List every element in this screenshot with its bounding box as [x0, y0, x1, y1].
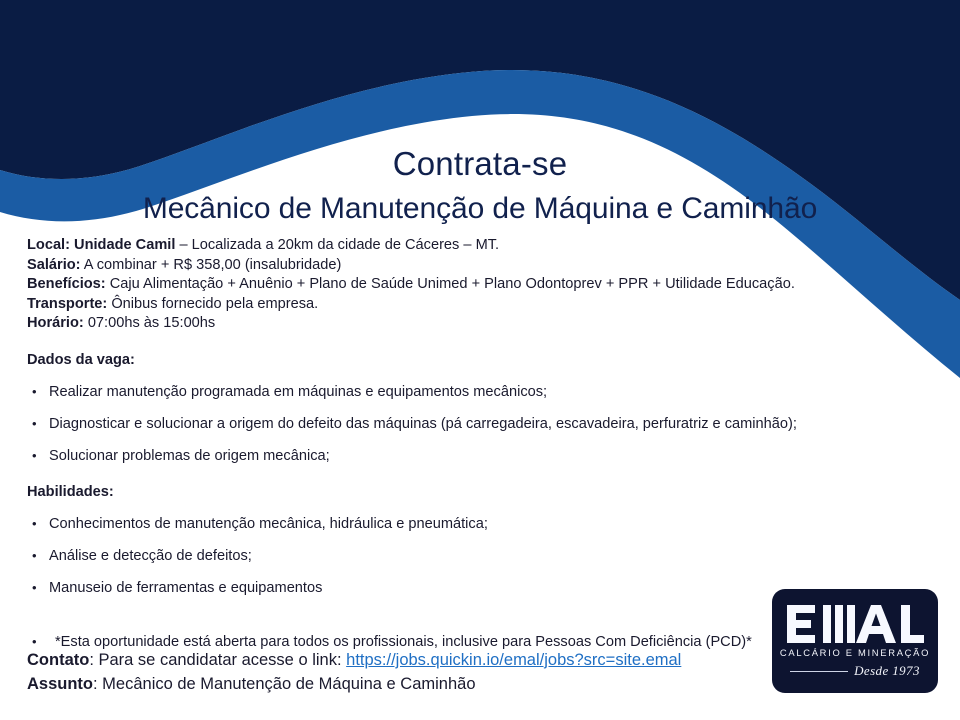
list-item-text: Diagnosticar e solucionar a origem do de…	[49, 415, 797, 434]
list-item: •Realizar manutenção programada em máqui…	[27, 382, 927, 402]
bullet-icon: •	[27, 514, 49, 533]
job-info-line: Transporte: Ônibus fornecido pela empres…	[27, 295, 927, 315]
job-info-line: Local: Unidade Camil – Localizada a 20km…	[27, 236, 927, 256]
list-item-text: Realizar manutenção programada em máquin…	[49, 383, 547, 402]
list-item-text: Conhecimentos de manutenção mecânica, hi…	[49, 515, 488, 534]
assunto-text: : Mecânico de Manutenção de Máquina e Ca…	[93, 675, 476, 693]
company-logo: CALCÁRIO E MINERAÇÃO Desde 1973	[772, 589, 938, 693]
job-info-list: Local: Unidade Camil – Localizada a 20km…	[27, 236, 927, 334]
assunto-label: Assunto	[27, 675, 93, 693]
bullet-icon: •	[27, 546, 49, 565]
page-title: Contrata-se	[0, 142, 960, 186]
subject-line: Assunto: Mecânico de Manutenção de Máqui…	[27, 672, 681, 696]
list-item: •Diagnosticar e solucionar a origem do d…	[27, 414, 927, 434]
logo-since-row: Desde 1973	[772, 663, 938, 679]
bullet-icon: •	[27, 414, 49, 433]
list-item: •Análise e detecção de defeitos;	[27, 546, 927, 566]
contato-label: Contato	[27, 651, 89, 669]
job-info-rest: A combinar + R$ 358,00 (insalubridade)	[81, 257, 342, 273]
bullet-icon: •	[27, 382, 49, 401]
job-info-value: Unidade Camil	[70, 237, 175, 253]
list-item: •Solucionar problemas de origem mecânica…	[27, 446, 927, 466]
logo-wordmark	[772, 602, 938, 643]
job-position-title: Mecânico de Manutenção de Máquina e Cami…	[0, 188, 960, 230]
job-info-label: Local:	[27, 237, 70, 253]
job-info-line: Salário: A combinar + R$ 358,00 (insalub…	[27, 256, 927, 276]
contact-block: Contato: Para se candidatar acesse o lin…	[27, 648, 681, 696]
job-info-rest: Caju Alimentação + Anuênio + Plano de Sa…	[106, 276, 795, 292]
apply-link[interactable]: https://jobs.quickin.io/emal/jobs?src=si…	[346, 651, 681, 669]
poster-headline: Contrata-se Mecânico de Manutenção de Má…	[0, 142, 960, 230]
bullet-icon: •	[27, 446, 49, 465]
job-info-label: Benefícios:	[27, 276, 106, 292]
job-info-line: Horário: 07:00hs às 15:00hs	[27, 314, 927, 334]
logo-divider	[790, 671, 848, 672]
job-sections-list: Dados da vaga:•Realizar manutenção progr…	[27, 351, 927, 598]
job-info-label: Horário:	[27, 315, 84, 331]
job-info-label: Transporte:	[27, 296, 107, 312]
list-item-text: Solucionar problemas de origem mecânica;	[49, 447, 330, 466]
emal-wordmark-icon	[785, 605, 925, 643]
job-info-rest: – Localizada a 20km da cidade de Cáceres…	[175, 237, 499, 253]
list-item: •Conhecimentos de manutenção mecânica, h…	[27, 514, 927, 534]
section-heading: Habilidades:	[27, 483, 927, 502]
job-info-rest: 07:00hs às 15:00hs	[84, 315, 215, 331]
job-info-line: Benefícios: Caju Alimentação + Anuênio +…	[27, 275, 927, 295]
list-item-text: Manuseio de ferramentas e equipamentos	[49, 579, 322, 598]
job-posting-poster: Contrata-se Mecânico de Manutenção de Má…	[0, 0, 960, 720]
bullet-icon: •	[27, 578, 49, 597]
contato-text: : Para se candidatar acesse o link:	[89, 651, 346, 669]
list-item-text: Análise e detecção de defeitos;	[49, 547, 252, 566]
logo-tagline: CALCÁRIO E MINERAÇÃO	[772, 647, 938, 658]
section-heading: Dados da vaga:	[27, 351, 927, 370]
job-info-rest: Ônibus fornecido pela empresa.	[107, 296, 318, 312]
job-info-label: Salário:	[27, 257, 81, 273]
contact-line: Contato: Para se candidatar acesse o lin…	[27, 648, 681, 672]
logo-since-text: Desde 1973	[854, 663, 920, 679]
